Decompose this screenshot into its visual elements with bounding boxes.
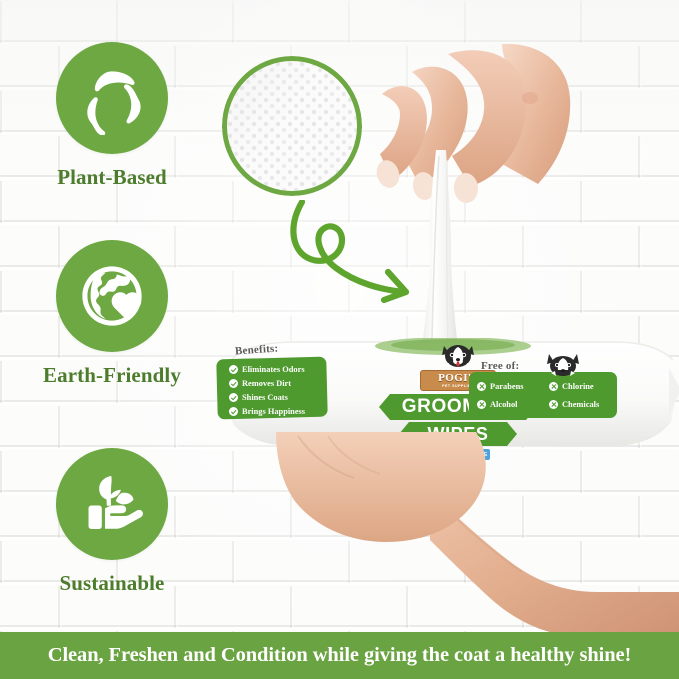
cross-icon bbox=[477, 400, 486, 409]
recycling-leaves-icon bbox=[56, 42, 168, 154]
feature-sustainable: Sustainable bbox=[22, 448, 202, 596]
inset-ring bbox=[222, 56, 362, 196]
globe-heart-icon bbox=[56, 240, 168, 352]
feature-label: Sustainable bbox=[22, 571, 202, 596]
benefit-item: Shines Coats bbox=[229, 393, 288, 402]
free-of-item: Parabens bbox=[477, 382, 524, 391]
feature-earth-friendly: Earth-Friendly bbox=[22, 240, 202, 388]
wipe-strip bbox=[418, 150, 464, 355]
free-of-label: Chemicals bbox=[562, 400, 599, 409]
check-icon bbox=[229, 407, 238, 416]
free-of-title: Free of: bbox=[481, 360, 519, 372]
check-icon bbox=[229, 393, 238, 402]
hand-sprout-icon bbox=[56, 448, 168, 560]
boston-terrier-peeking-icon bbox=[541, 352, 585, 382]
feature-plant-based: Plant-Based bbox=[22, 42, 202, 190]
free-of-item: Chemicals bbox=[549, 400, 599, 409]
banner-text: Clean, Freshen and Condition while givin… bbox=[48, 644, 632, 667]
boston-terrier-dog-icon bbox=[436, 342, 480, 372]
benefit-item: Eliminates Odors bbox=[229, 365, 305, 374]
check-icon bbox=[229, 365, 238, 374]
benefit-label: Shines Coats bbox=[242, 393, 288, 402]
free-of-item: Alcohol bbox=[477, 400, 517, 409]
check-icon bbox=[229, 379, 238, 388]
benefit-label: Brings Happiness bbox=[242, 407, 305, 416]
free-of-label: Parabens bbox=[490, 382, 524, 391]
benefit-item: Removes Dirt bbox=[229, 379, 291, 388]
cupped-palm bbox=[276, 430, 496, 550]
cross-icon bbox=[549, 382, 558, 391]
feature-label: Earth-Friendly bbox=[22, 363, 202, 388]
cross-icon bbox=[549, 400, 558, 409]
free-of-label: Alcohol bbox=[490, 400, 517, 409]
free-of-label: Chlorine bbox=[562, 382, 594, 391]
benefit-label: Removes Dirt bbox=[242, 379, 291, 388]
cross-icon bbox=[477, 382, 486, 391]
feature-label: Plant-Based bbox=[22, 165, 202, 190]
benefit-label: Eliminates Odors bbox=[242, 365, 305, 374]
free-of-item: Chlorine bbox=[549, 382, 594, 391]
bottom-banner: Clean, Freshen and Condition while givin… bbox=[0, 632, 679, 679]
product-marketing-image: Plant-Based Earth-Friendly bbox=[0, 0, 679, 679]
wipe-texture-closeup bbox=[222, 56, 362, 196]
benefit-item: Brings Happiness bbox=[229, 407, 305, 416]
